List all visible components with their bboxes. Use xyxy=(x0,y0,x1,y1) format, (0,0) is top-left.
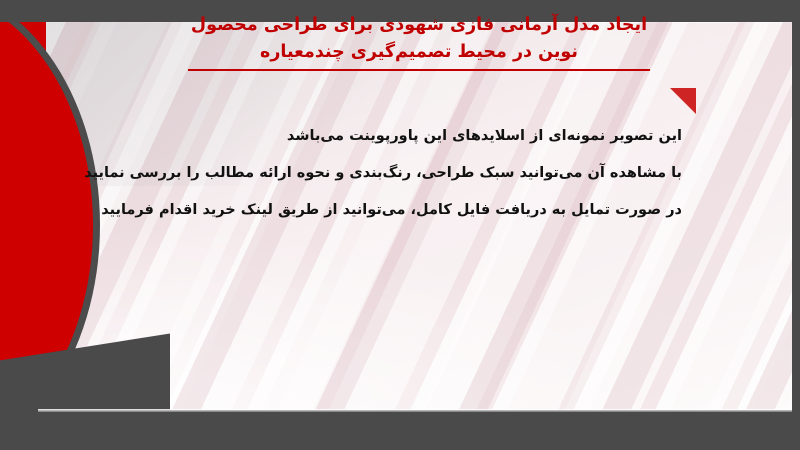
body-line-3: در صورت تمایل به دریافت فایل کامل، می‌تو… xyxy=(140,192,682,229)
bottom-frame-band xyxy=(0,410,800,450)
body-line-1: این تصویر نمونه‌ای از اسلایدهای این پاور… xyxy=(140,118,682,155)
body-line-2: با مشاهده آن می‌توانید سبک طراحی، رنگ‌بن… xyxy=(140,155,682,192)
slide-title: ایجاد مدل آرمانی فازی شهودی برای طراحی م… xyxy=(150,12,688,71)
title-underline-rule xyxy=(188,69,650,71)
slide-canvas: ایجاد مدل آرمانی فازی شهودی برای طراحی م… xyxy=(0,0,800,450)
red-accent-wedge xyxy=(670,88,696,114)
title-line-1: ایجاد مدل آرمانی فازی شهودی برای طراحی م… xyxy=(150,12,688,39)
bottom-frame-highlight xyxy=(38,409,792,412)
slide-body: این تصویر نمونه‌ای از اسلایدهای این پاور… xyxy=(140,118,682,229)
title-line-2: نوین در محیط تصمیم‌گیری چندمعیاره xyxy=(150,39,688,66)
